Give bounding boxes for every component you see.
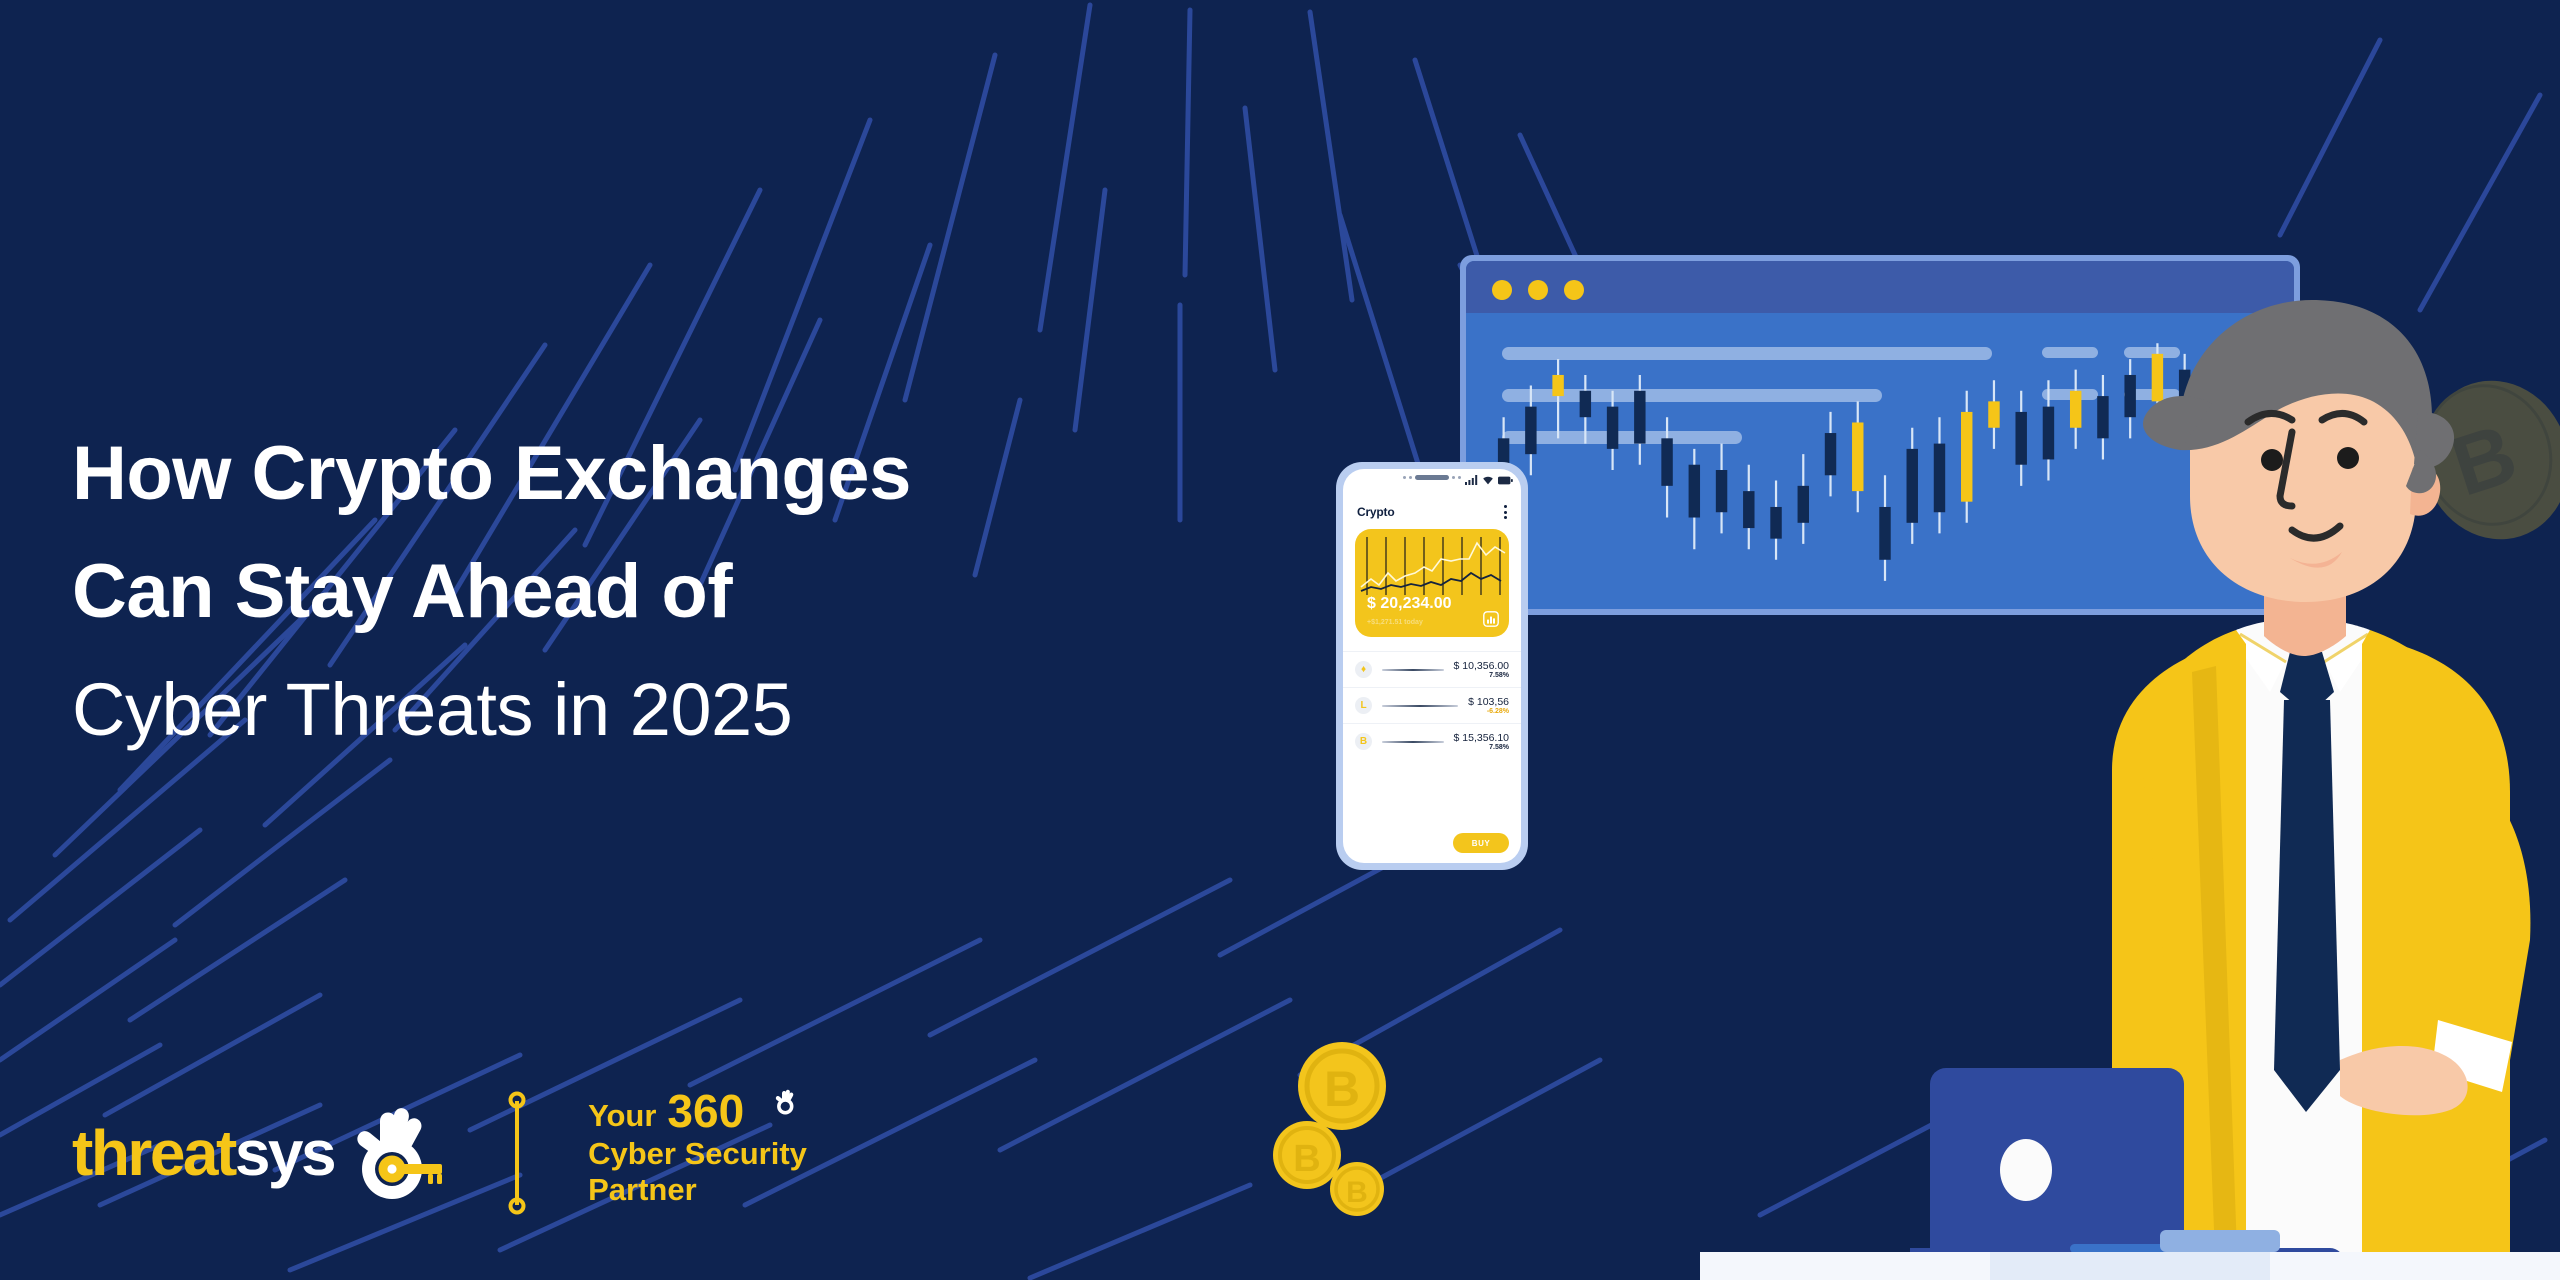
asset-change: 7.58%	[1454, 744, 1509, 751]
candle-body	[1525, 407, 1536, 455]
laptop-illustration[interactable]	[1910, 1048, 2430, 1280]
battery-icon	[1498, 476, 1513, 485]
candle-body	[1988, 401, 1999, 427]
phone-notch-dot	[1403, 476, 1406, 479]
svg-text:B: B	[1293, 1138, 1320, 1180]
phone-notch-speaker	[1415, 475, 1449, 480]
candle-body	[1907, 449, 1918, 523]
candle-body	[2015, 412, 2026, 465]
svg-text:B: B	[1346, 1176, 1368, 1209]
logo-word-threat: threat	[72, 1121, 235, 1185]
candle-body	[1552, 375, 1563, 396]
asset-change: -6.28%	[1468, 708, 1509, 715]
brand-footer: threat sys	[72, 1068, 807, 1238]
candle-body	[1879, 507, 1890, 560]
candle-body	[1852, 422, 1863, 491]
svg-text:B: B	[1324, 1061, 1360, 1117]
kebab-menu-icon[interactable]	[1504, 505, 1507, 518]
vertical-dot-divider	[508, 1091, 526, 1215]
threatsys-logo[interactable]: threat sys	[72, 1098, 446, 1208]
candle-body	[1825, 433, 1836, 475]
signal-icon	[1465, 475, 1478, 485]
phone-notch-dot	[1452, 476, 1455, 479]
tagline: Your 360 Cyber Security Partner	[588, 1098, 807, 1208]
candle-body	[1580, 391, 1591, 417]
asset-sparkline	[1382, 669, 1444, 671]
asset-sparkline	[1382, 705, 1458, 707]
candle-body	[1798, 486, 1809, 523]
laptop-logo-icon	[2000, 1139, 2052, 1201]
headline-line-3: Cyber Threats in 2025	[72, 651, 1372, 769]
candle-body	[1961, 412, 1972, 502]
candle-body	[1689, 465, 1700, 518]
tagline-line-3: Partner	[588, 1172, 807, 1208]
banner-root: How Crypto Exchanges Can Stay Ahead of C…	[0, 0, 2560, 1280]
ok-hand-icon	[770, 1086, 800, 1118]
hero-illustration: B	[1280, 0, 2560, 1280]
phone-balance-amount: $ 20,234.00	[1367, 595, 1452, 613]
candle-body	[1716, 470, 1727, 512]
tagline-word-your: Your	[588, 1098, 656, 1134]
headline-line-2: Can Stay Ahead of	[72, 533, 1372, 651]
candle-body	[1743, 491, 1754, 528]
phone-balance-change: +$1,271.51 today	[1367, 619, 1423, 626]
desk-shadow	[1990, 1252, 2270, 1280]
asset-sparkline	[1382, 741, 1444, 743]
candle-body	[1770, 507, 1781, 539]
logo-word-sys: sys	[235, 1121, 334, 1185]
asset-price: $ 10,356.00	[1454, 660, 1509, 672]
asset-price: $ 15,356.10	[1454, 732, 1509, 744]
balance-card-sparkline	[1355, 529, 1509, 605]
candle-body	[1934, 444, 1945, 513]
phone-notch-dot	[1409, 476, 1412, 479]
headline-line-1: How Crypto Exchanges	[72, 415, 1372, 533]
wifi-icon	[1482, 475, 1494, 485]
tagline-360: 360	[667, 1093, 744, 1131]
ok-hand-key-icon	[336, 1095, 446, 1211]
bitcoin-coin-small: B	[1326, 1158, 1388, 1220]
window-dots	[1492, 280, 1584, 300]
bar-chart-icon[interactable]	[1483, 611, 1499, 627]
phone-notch-dot	[1458, 476, 1461, 479]
phone-balance-card[interactable]: $ 20,234.00 +$1,271.51 today	[1355, 529, 1509, 637]
asset-price: $ 103,56	[1468, 696, 1509, 708]
asset-change: 7.58%	[1454, 672, 1509, 679]
candle-body	[1607, 407, 1618, 449]
buy-button[interactable]: BUY	[1453, 833, 1509, 853]
candle-body	[1634, 391, 1645, 444]
page-title: How Crypto Exchanges Can Stay Ahead of C…	[72, 415, 1372, 769]
tagline-line-2: Cyber Security	[588, 1136, 807, 1172]
candle-body	[1661, 438, 1672, 486]
